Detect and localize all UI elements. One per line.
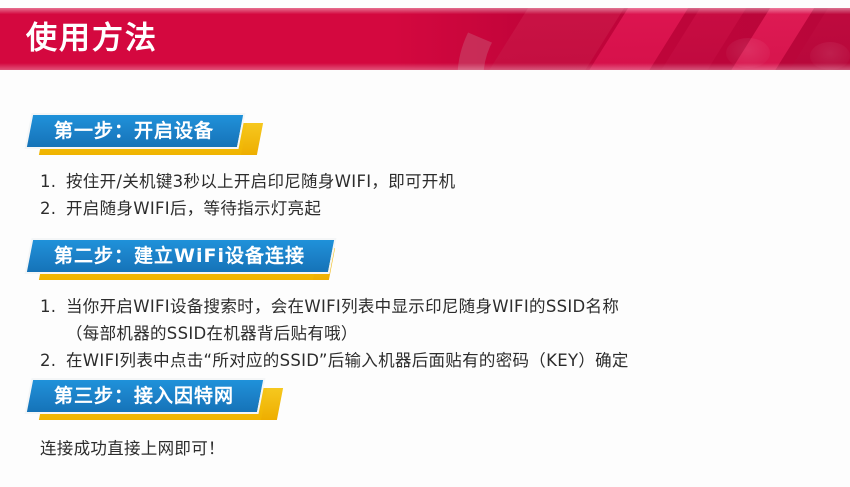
step-2-items: 1. 当你开启WIFI设备搜索时，会在WIFI列表中显示印尼随身WIFI的SSI…: [0, 293, 850, 374]
step-2-badge-label: 第二步：建立WiFi设备连接: [54, 240, 305, 272]
step-1-badge[interactable]: 第一步：开启设备: [27, 115, 243, 147]
list-item-number: 2.: [40, 347, 66, 374]
list-item: 2. 在WIFI列表中点击“所对应的SSID”后输入机器后面贴有的密码（KEY）…: [0, 347, 850, 374]
list-item-text: 按住开/关机键3秒以上开启印尼随身WIFI，即可开机: [66, 168, 850, 195]
step-3-badge-label: 第三步：接入因特网: [54, 380, 234, 412]
page-root: 使用方法 第一步：开启设备 1. 按住开/关机键3秒以上开启印尼随身WIFI，即…: [0, 0, 850, 487]
list-item: 1. 按住开/关机键3秒以上开启印尼随身WIFI，即可开机: [0, 168, 850, 195]
list-item-number: 2.: [40, 195, 66, 222]
step-3-items: 连接成功直接上网即可！: [0, 435, 850, 462]
step-2-badge[interactable]: 第二步：建立WiFi设备连接: [27, 240, 334, 272]
step-2-badge-wrap: 第二步：建立WiFi设备连接: [30, 240, 331, 276]
step-1-items: 1. 按住开/关机键3秒以上开启印尼随身WIFI，即可开机 2. 开启随身WIF…: [0, 168, 850, 222]
list-item: 2. 开启随身WIFI后，等待指示灯亮起: [0, 195, 850, 222]
step-1-badge-row: 第一步：开启设备: [0, 115, 850, 151]
list-item-number: 1.: [40, 168, 66, 195]
step-3-badge[interactable]: 第三步：接入因特网: [27, 380, 263, 412]
list-item: 1. 当你开启WIFI设备搜索时，会在WIFI列表中显示印尼随身WIFI的SSI…: [0, 293, 850, 320]
header-banner: 使用方法: [0, 8, 850, 70]
list-item-text: 当你开启WIFI设备搜索时，会在WIFI列表中显示印尼随身WIFI的SSID名称: [66, 293, 850, 320]
page-title: 使用方法: [26, 24, 158, 55]
list-item-text: 在WIFI列表中点击“所对应的SSID”后输入机器后面贴有的密码（KEY）确定: [66, 347, 850, 374]
step-1-badge-label: 第一步：开启设备: [54, 115, 214, 147]
step-3-note: 连接成功直接上网即可！: [40, 435, 850, 462]
list-item-text: 开启随身WIFI后，等待指示灯亮起: [66, 195, 850, 222]
step-1-badge-wrap: 第一步：开启设备: [30, 115, 240, 151]
list-item-subtext: （每部机器的SSID在机器背后贴有哦）: [66, 320, 850, 347]
list-item-number: 1.: [40, 293, 66, 320]
step-3-badge-row: 第三步：接入因特网: [0, 380, 850, 416]
step-2-badge-row: 第二步：建立WiFi设备连接: [0, 240, 850, 276]
step-3-badge-wrap: 第三步：接入因特网: [30, 380, 260, 416]
